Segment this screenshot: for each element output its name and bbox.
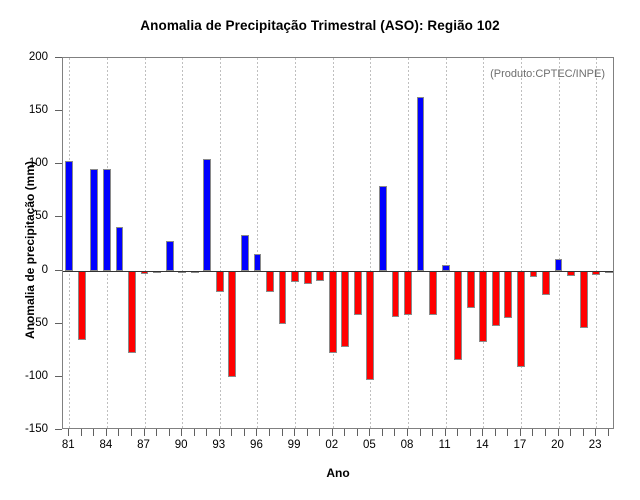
bar-00 [304,271,312,285]
bar-95 [241,235,249,270]
x-tick-mark [269,429,270,436]
x-tick-mark [445,429,446,436]
x-tick-label: 87 [137,439,150,451]
grid-line [408,58,409,428]
x-tick-mark [570,429,571,436]
y-tick-label: 50 [35,210,48,222]
bar-15 [492,271,500,326]
x-tick-label: 93 [212,439,225,451]
grid-line [559,58,560,428]
bar-03 [341,271,349,348]
bar-99 [291,271,299,283]
x-tick-mark [420,429,421,436]
x-tick-mark [156,429,157,436]
y-tick-label: -150 [25,423,48,435]
grid-line [596,58,597,428]
x-tick-mark [319,429,320,436]
y-tick-mark [55,163,62,164]
y-tick-mark [55,57,62,58]
grid-lines [63,58,613,428]
bar-02 [329,271,337,354]
x-tick-mark [68,429,69,436]
bar-01 [316,271,324,282]
x-tick-mark [344,429,345,436]
bar-13 [467,271,475,308]
bar-05 [366,271,374,380]
bar-20 [555,259,563,271]
x-tick-label: 02 [325,439,338,451]
bar-16 [504,271,512,319]
y-axis: 200150100500-50-100-150 Anomalia de prec… [0,0,62,500]
grid-line [145,58,146,428]
y-tick-mark [55,323,62,324]
x-tick-mark [219,429,220,436]
bar-14 [479,271,487,342]
x-tick-mark [394,429,395,436]
bar-89 [166,241,174,271]
bar-08 [404,271,412,316]
y-tick-mark [55,270,62,271]
y-tick-mark [55,216,62,217]
bar-93 [216,271,224,292]
source-annotation: (Produto:CPTEC/INPE) [490,68,605,80]
x-tick-mark [595,429,596,436]
y-tick-mark [55,110,62,111]
x-tick-mark [507,429,508,436]
bar-86 [128,271,136,354]
bar-94 [228,271,236,377]
x-tick-mark [144,429,145,436]
x-tick-label: 96 [250,439,263,451]
bar-06 [379,186,387,271]
x-tick-mark [106,429,107,436]
y-tick-mark [55,429,62,430]
x-tick-mark [307,429,308,436]
x-tick-label: 08 [401,439,414,451]
x-tick-label: 11 [439,439,451,451]
grid-line [220,58,221,428]
x-tick-label: 17 [514,439,527,451]
x-tick-mark [520,429,521,436]
y-tick-label: 200 [29,51,48,63]
x-tick-mark [382,429,383,436]
grid-line [257,58,258,428]
x-tick-mark [244,429,245,436]
bar-07 [392,271,400,318]
x-tick-mark [545,429,546,436]
bar-04 [354,271,362,316]
x-tick-mark [457,429,458,436]
x-tick-mark [332,429,333,436]
x-tick-mark [432,429,433,436]
x-tick-mark [131,429,132,436]
bar-82 [78,271,86,340]
bar-12 [454,271,462,360]
x-tick-mark [482,429,483,436]
x-tick-label: 20 [551,439,564,451]
x-tick-mark [194,429,195,436]
x-tick-label: 23 [589,439,602,451]
x-tick-label: 90 [175,439,188,451]
zero-baseline [63,271,613,272]
bar-97 [266,271,274,292]
chart-page: Anomalia de Precipitação Trimestral (ASO… [0,0,640,500]
grid-line [483,58,484,428]
bar-92 [203,159,211,271]
x-tick-mark [608,429,609,436]
page-title: Anomalia de Precipitação Trimestral (ASO… [0,18,640,33]
x-tick-mark [407,429,408,436]
x-tick-mark [231,429,232,436]
x-axis-title: Ano [62,466,614,480]
bar-96 [254,254,262,271]
y-tick-mark [55,376,62,377]
x-tick-label: 99 [288,439,301,451]
y-tick-label: 0 [42,264,48,276]
bar-81 [65,161,73,270]
bar-09 [417,97,425,270]
x-tick-label: 81 [62,439,75,451]
x-tick-label: 05 [363,439,376,451]
bar-22 [580,271,588,328]
x-tick-mark [256,429,257,436]
bar-17 [517,271,525,368]
x-tick-mark [294,429,295,436]
x-tick-mark [81,429,82,436]
x-tick-mark [181,429,182,436]
x-tick-mark [118,429,119,436]
x-tick-mark [282,429,283,436]
bar-84 [103,169,111,271]
plot-area: (Produto:CPTEC/INPE) [62,57,614,429]
grid-line [182,58,183,428]
x-tick-mark [369,429,370,436]
x-tick-mark [495,429,496,436]
grid-line [333,58,334,428]
x-tick-mark [470,429,471,436]
x-tick-mark [532,429,533,436]
bar-85 [116,227,124,271]
x-tick-label: 84 [100,439,113,451]
bar-10 [429,271,437,316]
x-tick-mark [93,429,94,436]
x-tick-label: 14 [476,439,489,451]
x-tick-mark [169,429,170,436]
y-axis-title: Anomalia de precipitação (mm) [23,100,37,400]
x-tick-mark [558,429,559,436]
bar-98 [279,271,287,324]
bar-19 [542,271,550,295]
grid-line [295,58,296,428]
grid-line [446,58,447,428]
x-tick-mark [357,429,358,436]
x-tick-mark [583,429,584,436]
x-tick-mark [206,429,207,436]
bar-83 [90,169,98,271]
grid-line [521,58,522,428]
